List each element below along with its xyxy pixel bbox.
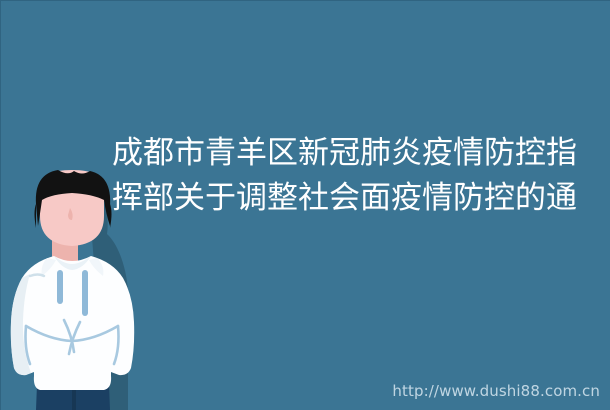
headline: 成都市青羊区新冠肺炎疫情防控指 挥部关于调整社会面疫情防控的通 (112, 131, 610, 221)
headline-line-2: 挥部关于调整社会面疫情防控的通 (112, 176, 610, 221)
watermark-url: http://www.dushi88.com.cn (392, 382, 600, 400)
white-hoodie (11, 256, 134, 390)
headline-line-1: 成都市青羊区新冠肺炎疫情防控指 (112, 131, 610, 176)
image-canvas: 成都市青羊区新冠肺炎疫情防控指 挥部关于调整社会面疫情防控的通 http://w… (0, 0, 610, 410)
